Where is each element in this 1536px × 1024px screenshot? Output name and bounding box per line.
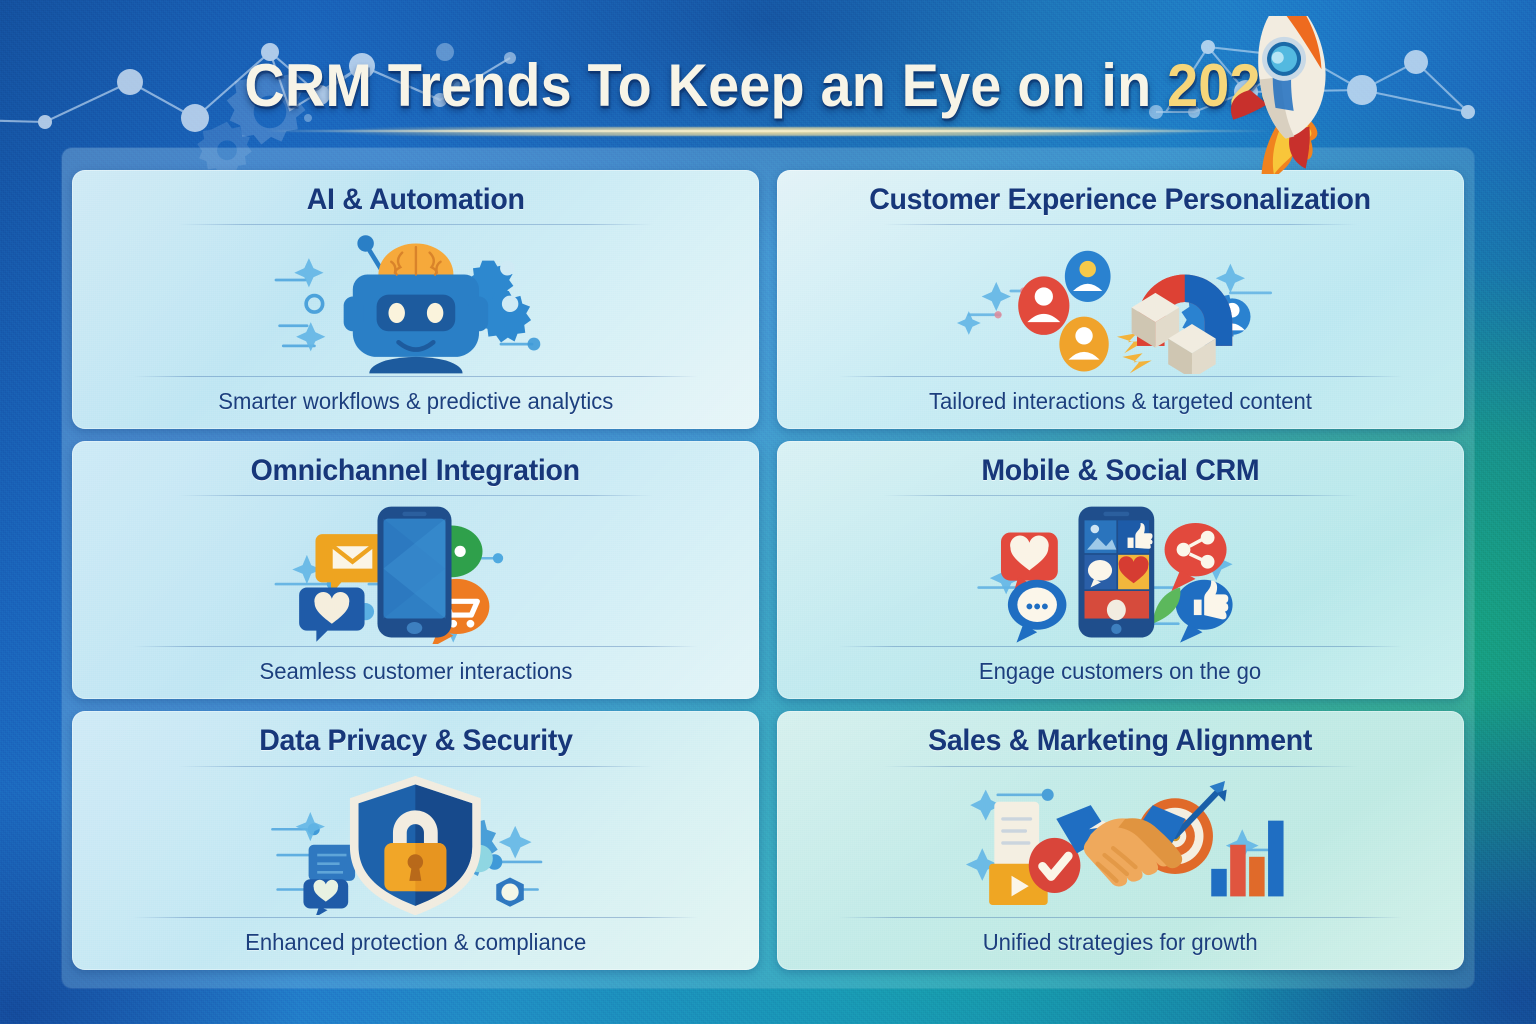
card-title: Mobile & Social CRM — [981, 455, 1259, 487]
rocket-icon — [1195, 16, 1371, 174]
card-subtitle: Engage customers on the go — [979, 658, 1261, 685]
card-illustration — [94, 496, 737, 646]
trend-card-customer-experience-personalization[interactable]: Customer Experience Personalization — [777, 170, 1464, 429]
trend-card-omnichannel-integration[interactable]: Omnichannel Integration — [72, 441, 759, 700]
card-title: Data Privacy & Security — [259, 725, 572, 757]
card-title: AI & Automation — [307, 184, 525, 216]
card-title: Sales & Marketing Alignment — [928, 725, 1312, 757]
card-subtitle: Smarter workflows & predictive analytics — [218, 388, 613, 415]
card-sub-rule — [838, 917, 1404, 918]
title-underline — [197, 127, 1339, 136]
card-illustration — [799, 225, 1442, 375]
magnet-customers-icon — [956, 227, 1285, 373]
card-title: Customer Experience Personalization — [870, 184, 1372, 216]
card-subtitle: Unified strategies for growth — [983, 929, 1258, 956]
card-subtitle: Enhanced protection & compliance — [245, 929, 586, 956]
card-illustration — [799, 767, 1442, 917]
shield-lock-icon — [269, 769, 562, 915]
smartphone-social-icon — [970, 498, 1271, 644]
smartphone-channels-icon — [269, 498, 562, 644]
trend-card-sales-marketing-alignment[interactable]: Sales & Marketing Alignment — [777, 711, 1464, 970]
card-title: Omnichannel Integration — [251, 455, 580, 487]
card-sub-rule — [133, 917, 699, 918]
trend-card-ai-automation[interactable]: AI & Automation — [72, 170, 759, 429]
page-title: CRM Trends To Keep an Eye on in 2023 — [244, 56, 1292, 116]
card-sub-rule — [838, 646, 1404, 647]
title-wrap: CRM Trends To Keep an Eye on in 2023 — [205, 52, 1331, 116]
robot-brain-icon — [265, 227, 567, 373]
page-title-main: CRM Trends To Keep an Eye on in — [244, 52, 1167, 119]
trend-card-mobile-social-crm[interactable]: Mobile & Social CRM — [777, 441, 1464, 700]
card-illustration — [94, 225, 737, 375]
card-sub-rule — [133, 646, 699, 647]
card-subtitle: Seamless customer interactions — [259, 658, 572, 685]
trend-card-data-privacy-security[interactable]: Data Privacy & Security — [72, 711, 759, 970]
card-illustration — [94, 767, 737, 917]
card-subtitle: Tailored interactions & targeted content — [929, 388, 1312, 415]
card-sub-rule — [838, 376, 1404, 377]
card-illustration — [799, 496, 1442, 646]
trends-grid: AI & Automation — [72, 170, 1464, 970]
handshake-target-chart-icon — [953, 769, 1289, 915]
card-sub-rule — [133, 376, 699, 377]
